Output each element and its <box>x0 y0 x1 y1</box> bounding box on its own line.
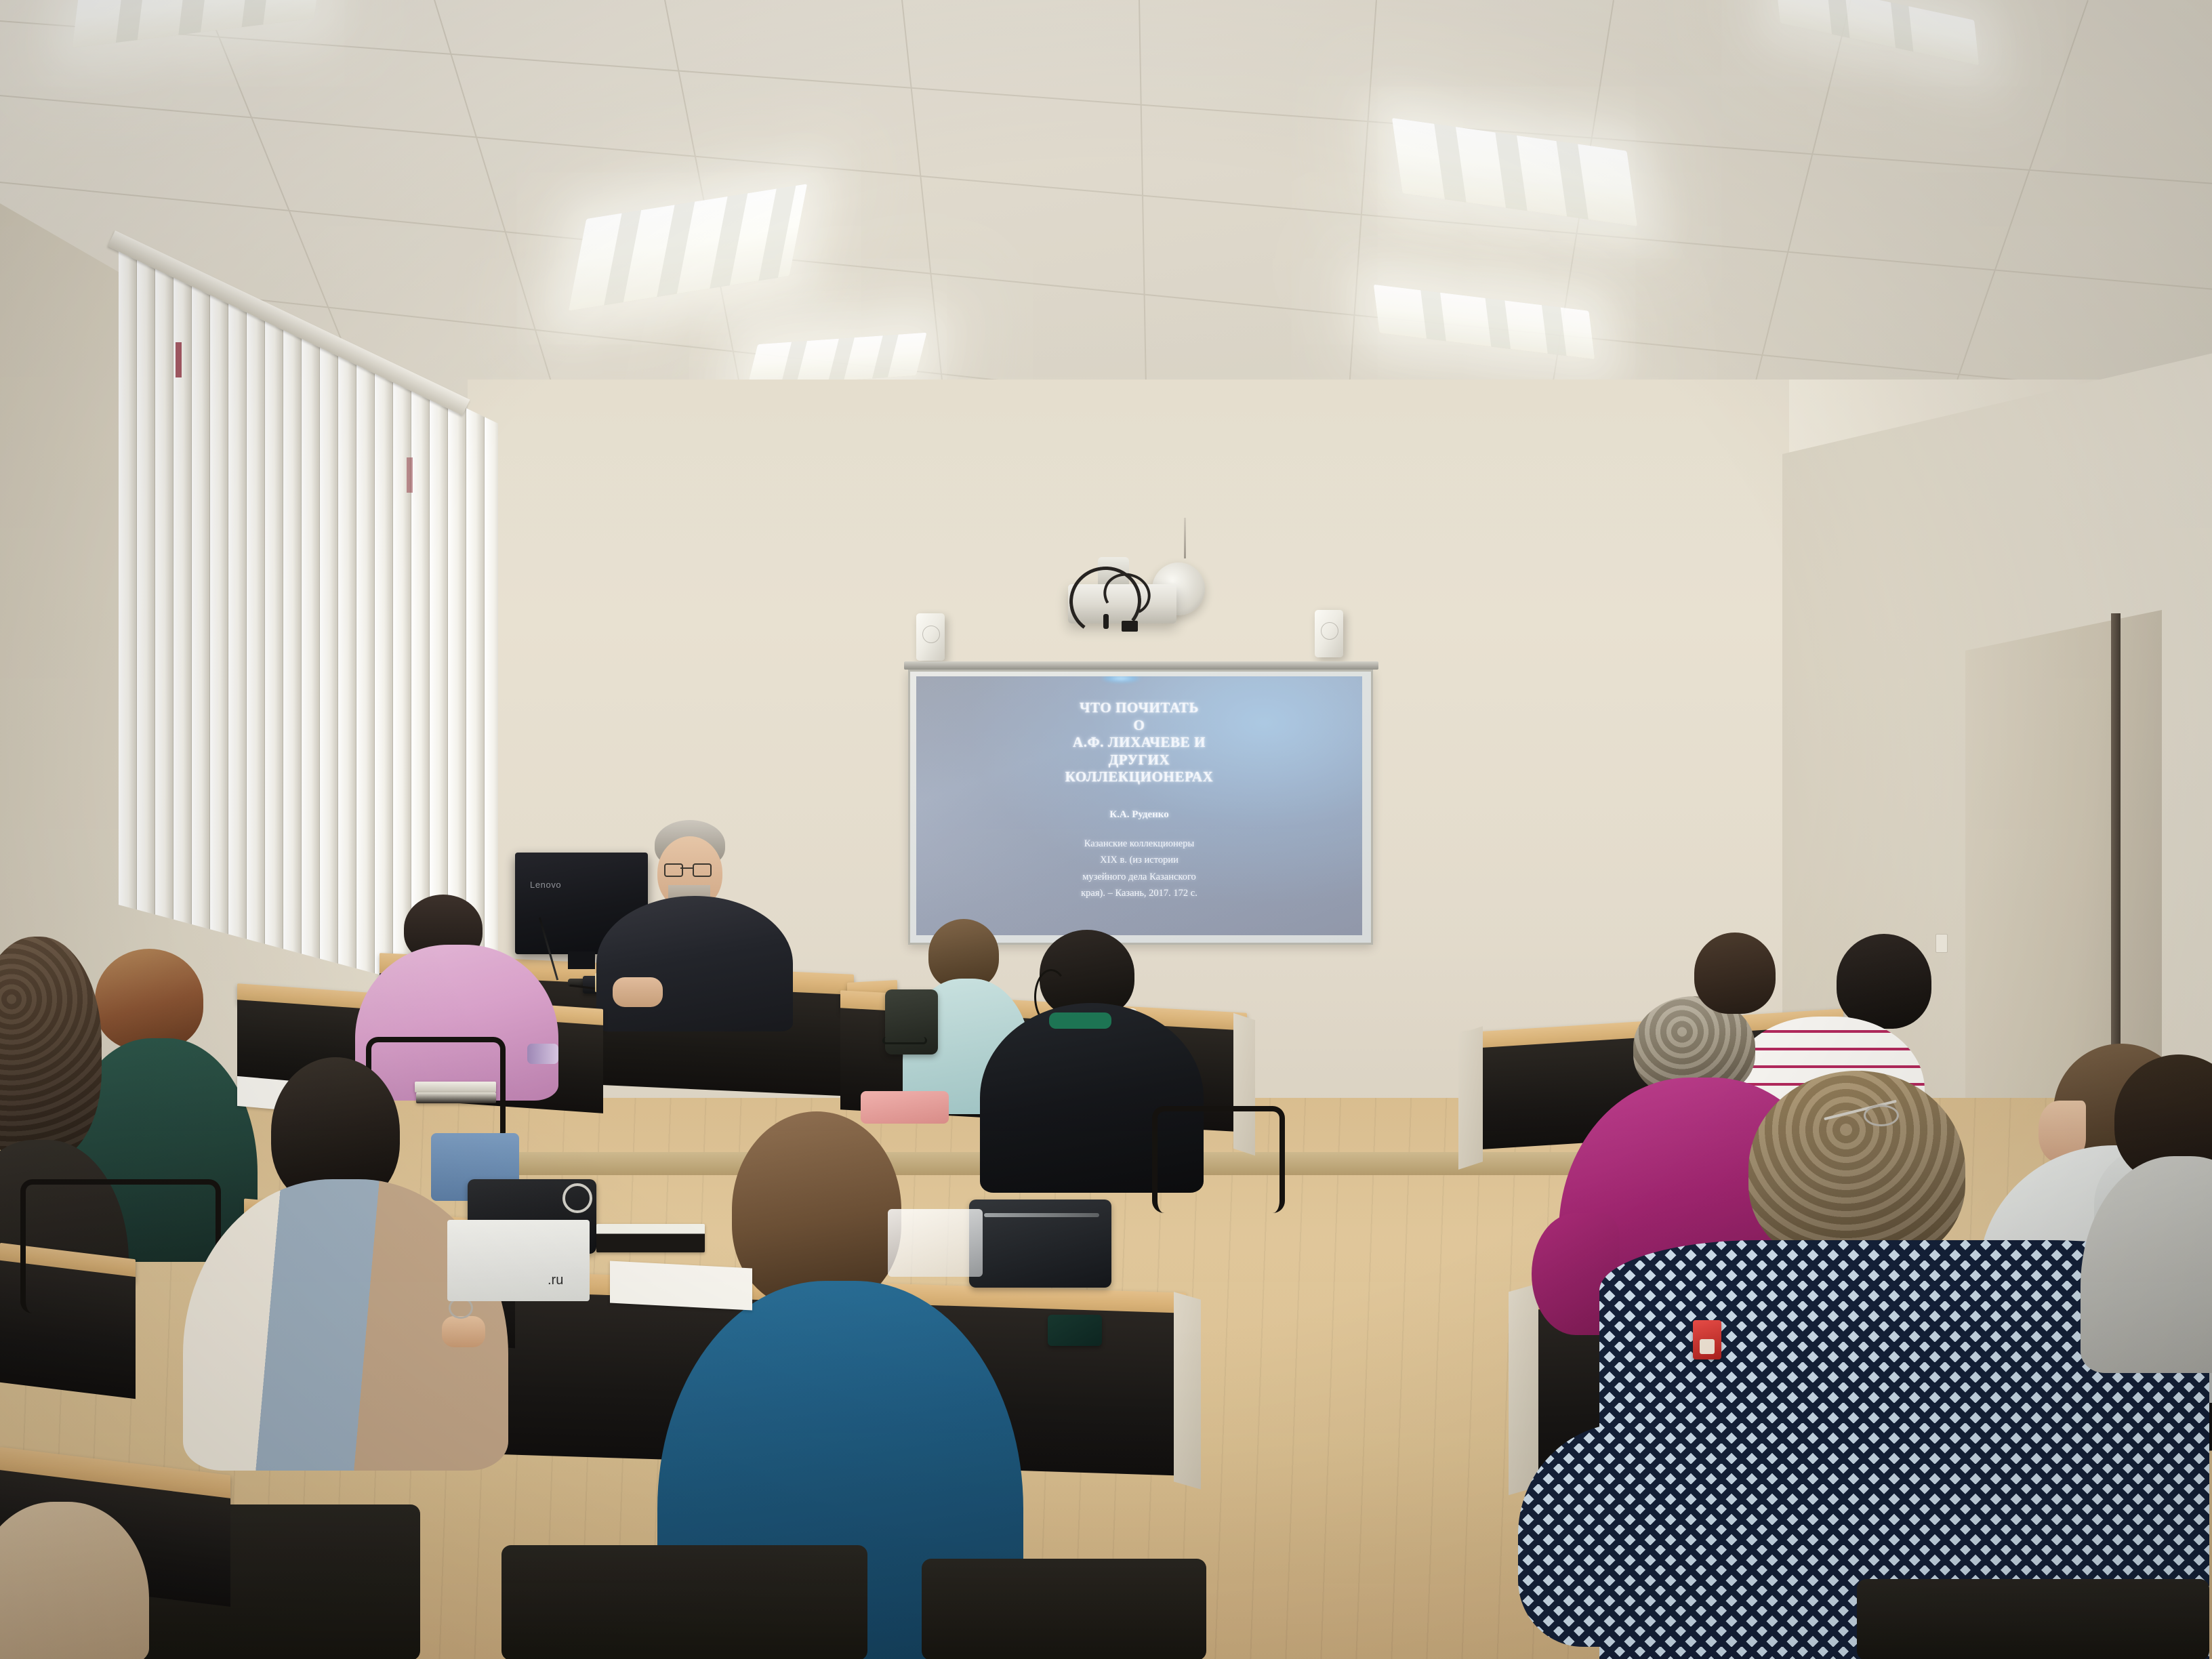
student-houndstooth-hair <box>1748 1071 1965 1267</box>
student-colorblock-hand <box>442 1316 485 1347</box>
slide-reference: Казанские коллекционеры XIX в. (из истор… <box>916 836 1362 901</box>
chair-foreground-center[interactable] <box>922 1559 1206 1659</box>
hoodie-collar <box>1049 1012 1111 1029</box>
monitor-brand-label: Lenovo <box>530 880 561 890</box>
handbag-ring <box>562 1183 592 1213</box>
student-stripes-hair <box>1837 934 1931 1029</box>
slide-title-line-1: ЧТО ПОЧИТАТЬ <box>916 699 1362 717</box>
pink-folder <box>861 1091 949 1124</box>
slide-title-line-5: КОЛЛЕКЦИОНЕРАХ <box>916 769 1362 786</box>
backpack-row2 <box>885 989 938 1054</box>
student-green-hair <box>95 949 203 1050</box>
open-paper-row3 <box>610 1261 752 1310</box>
whiteboard-pen-tray <box>904 661 1378 670</box>
projection-glint <box>1101 676 1141 683</box>
white-shopping-bag[interactable] <box>447 1220 590 1301</box>
white-shopping-bag-text: .ru <box>548 1273 563 1288</box>
slide-title-line-3: А.Ф. ЛИХАЧЕВЕ И <box>916 734 1362 752</box>
slide-reference-line-3: музейного дела Казанского <box>916 869 1362 885</box>
notebook-stack <box>416 1092 496 1103</box>
chair-row2-right[interactable] <box>1152 1106 1285 1213</box>
slide-title: ЧТО ПОЧИТАТЬ О А.Ф. ЛИХАЧЕВЕ И ДРУГИХ КО… <box>916 699 1362 786</box>
slide-author: К.А. Руденко <box>916 809 1362 821</box>
desk-right-back-side <box>1458 1026 1483 1170</box>
red-object-highlight <box>1700 1339 1715 1354</box>
slide-reference-line-2: XIX в. (из истории <box>916 852 1362 868</box>
phone[interactable] <box>1048 1315 1102 1346</box>
student-pink-sleeve-cuff <box>527 1044 558 1064</box>
presenter-jacket <box>596 896 793 1031</box>
projector-mount <box>1184 518 1186 558</box>
projector-plug <box>1122 621 1138 632</box>
plastic-bag[interactable] <box>888 1209 983 1277</box>
slide-reference-line-4: края). – Казань, 2017. 172 с. <box>916 885 1362 901</box>
desk-row3-side <box>1174 1292 1201 1489</box>
wall-speaker-right <box>1315 610 1343 657</box>
slide-title-line-4: ДРУГИХ <box>916 752 1362 769</box>
notebook-stack <box>415 1082 496 1092</box>
lecture-room-photo: ЧТО ПОЧИТАТЬ О А.Ф. ЛИХАЧЕВЕ И ДРУГИХ КО… <box>0 0 2212 1659</box>
presenter-hand <box>613 977 663 1007</box>
slide-title-line-2: О <box>916 717 1362 735</box>
student-houndstooth-sleeve <box>1518 1423 1735 1647</box>
wall-speaker-left <box>916 613 945 661</box>
presenter-glasses <box>663 863 718 876</box>
projector-plug <box>1103 614 1109 629</box>
chair-far-left[interactable] <box>20 1179 221 1313</box>
chair-row3-center[interactable] <box>501 1545 867 1659</box>
slide-reference-line-1: Казанские коллекционеры <box>916 836 1362 852</box>
handbag-zipper <box>984 1213 1099 1217</box>
desk-right-front-side <box>1509 1284 1538 1496</box>
student-blue-hair <box>732 1111 901 1308</box>
monitor-stand <box>568 951 595 969</box>
light-switch[interactable] <box>1935 934 1948 953</box>
chair-foreground-right[interactable] <box>1857 1579 2209 1659</box>
student-right-far-hair <box>1694 933 1776 1014</box>
projected-slide: ЧТО ПОЧИТАТЬ О А.Ф. ЛИХАЧЕВЕ И ДРУГИХ КО… <box>916 676 1362 935</box>
backpack-strap <box>882 1037 927 1044</box>
dark-book <box>596 1224 705 1252</box>
glasses-on-head <box>1823 1103 1918 1126</box>
